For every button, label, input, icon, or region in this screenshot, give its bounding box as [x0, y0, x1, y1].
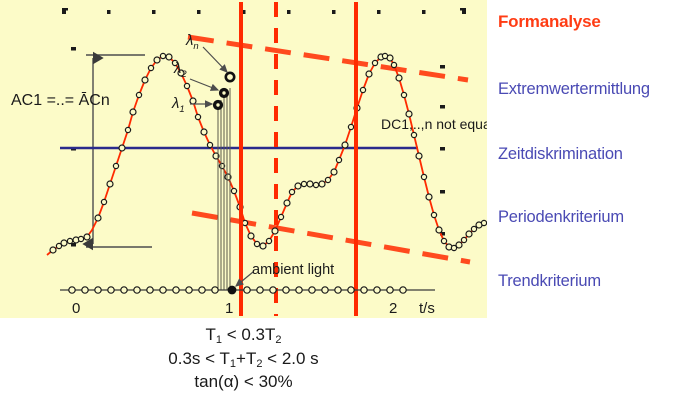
step-periodenkriterium[interactable]: Periodenkriterium: [498, 208, 624, 227]
formula-1-op: < 0.3T: [222, 325, 275, 344]
slide-root: AC1 =..= ĀCn λn λ2 λ1 DC1,..,n not equal…: [0, 0, 697, 407]
signal-data-points: [50, 53, 487, 253]
formula-1-sub2: 2: [275, 334, 281, 346]
formula-1-t1: T: [205, 325, 215, 344]
ambient-light-label: ambient light: [252, 262, 334, 278]
y-axis-ticks-right: [440, 65, 445, 236]
formula-2-c: < 2.0 s: [262, 349, 318, 368]
ambient-light-arrow: [236, 272, 253, 286]
step-trendkriterium[interactable]: Trendkriterium: [498, 272, 601, 291]
lower-trend-line: [192, 213, 470, 262]
lambda-1-label: λ1: [171, 95, 185, 115]
time-discrimination-lines: [218, 88, 230, 290]
x-tick-2: 2: [389, 300, 397, 317]
analysis-step-list: Formanalyse Extremwertermittlung Zeitdis…: [498, 0, 697, 318]
formula-2-b: +T: [236, 349, 256, 368]
formula-line-2: 0.3s < T1+T2 < 2.0 s: [168, 348, 318, 372]
ambient-light-point: [228, 286, 237, 295]
x-tick-0: 0: [72, 300, 80, 317]
step-extremwertermittlung[interactable]: Extremwertermittlung: [498, 80, 650, 99]
top-frame-ticks: [62, 8, 466, 14]
formula-2-a: 0.3s < T: [168, 349, 230, 368]
formula-line-1: T1 < 0.3T2: [205, 324, 281, 348]
lambda-n-label: λn: [185, 32, 199, 52]
step-zeitdiskrimination[interactable]: Zeitdiskrimination: [498, 145, 623, 164]
x-tick-1: 1: [225, 300, 233, 317]
x-axis-label: t/s: [419, 300, 435, 317]
dc-not-equal-label: DC1,..,n not equal: [381, 116, 494, 132]
formula-line-3: tan(α) < 30%: [194, 371, 292, 393]
ac-amplitude-label: AC1 =..= ĀCn: [11, 91, 110, 109]
criteria-formulas: T1 < 0.3T2 0.3s < T1+T2 < 2.0 s tan(α) <…: [0, 320, 487, 407]
step-formanalyse[interactable]: Formanalyse: [498, 12, 601, 32]
lambda-2-label: λ2: [173, 60, 187, 80]
